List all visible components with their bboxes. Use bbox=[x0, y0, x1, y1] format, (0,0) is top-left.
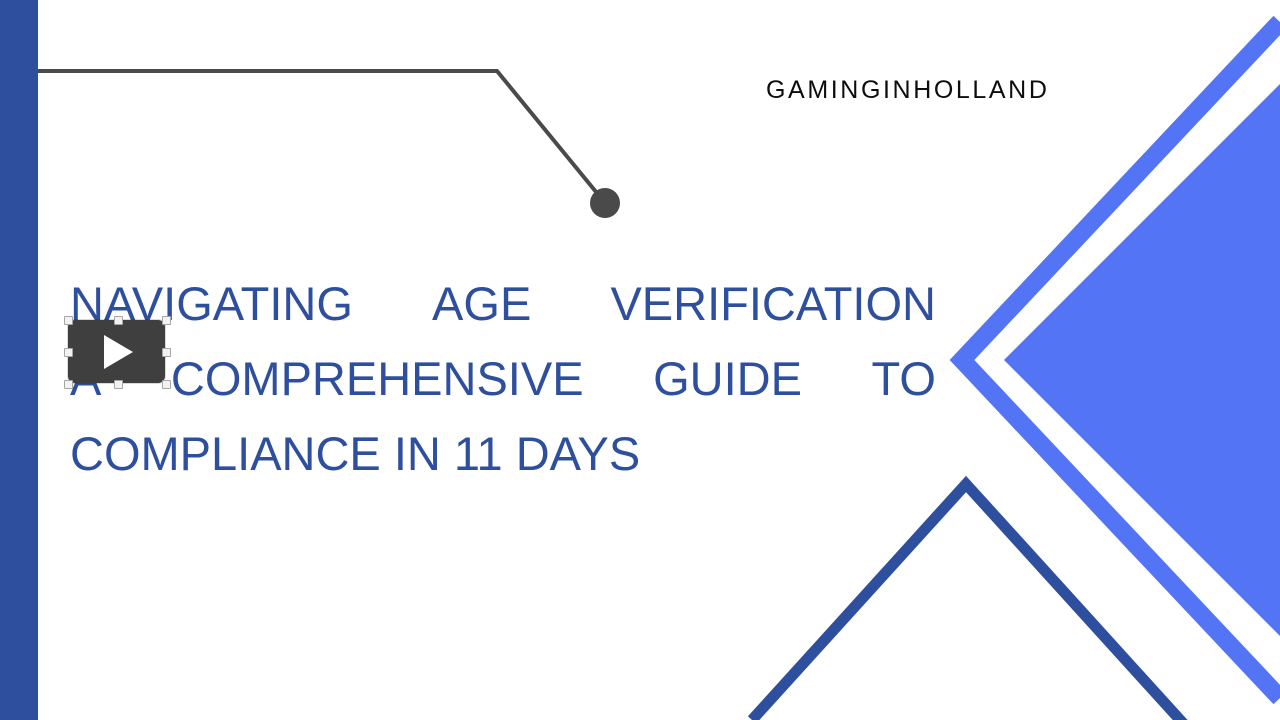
title-line-1: NAVIGATING AGE VERIFICATION bbox=[70, 266, 936, 341]
video-play-object[interactable] bbox=[68, 320, 165, 383]
resize-handle-bottom-left[interactable] bbox=[64, 380, 73, 389]
slide-title: NAVIGATING AGE VERIFICATION A COMPREHENS… bbox=[70, 266, 936, 491]
slide-canvas: GAMINGINHOLLAND NAVIGATING AGE VERIFICAT… bbox=[0, 0, 1280, 720]
title-word: AGE bbox=[432, 266, 531, 341]
resize-handle-top-center[interactable] bbox=[114, 316, 123, 325]
play-triangle-icon[interactable] bbox=[104, 335, 133, 369]
title-line-3: COMPLIANCE IN 11 DAYS bbox=[70, 416, 936, 491]
brand-label: GAMINGINHOLLAND bbox=[766, 76, 1049, 105]
title-word: GUIDE bbox=[653, 341, 802, 416]
resize-handle-top-right[interactable] bbox=[162, 316, 171, 325]
title-word: TO bbox=[872, 341, 936, 416]
resize-handle-bottom-right[interactable] bbox=[162, 380, 171, 389]
resize-handle-top-left[interactable] bbox=[64, 316, 73, 325]
title-word: COMPREHENSIVE bbox=[171, 341, 584, 416]
resize-handle-middle-right[interactable] bbox=[162, 348, 171, 357]
connector-polyline bbox=[38, 71, 601, 198]
title-line-2: A COMPREHENSIVE GUIDE TO bbox=[70, 341, 936, 416]
resize-handle-middle-left[interactable] bbox=[64, 348, 73, 357]
resize-handle-bottom-center[interactable] bbox=[114, 380, 123, 389]
title-word: VERIFICATION bbox=[610, 266, 936, 341]
connector-end-dot bbox=[590, 188, 620, 218]
